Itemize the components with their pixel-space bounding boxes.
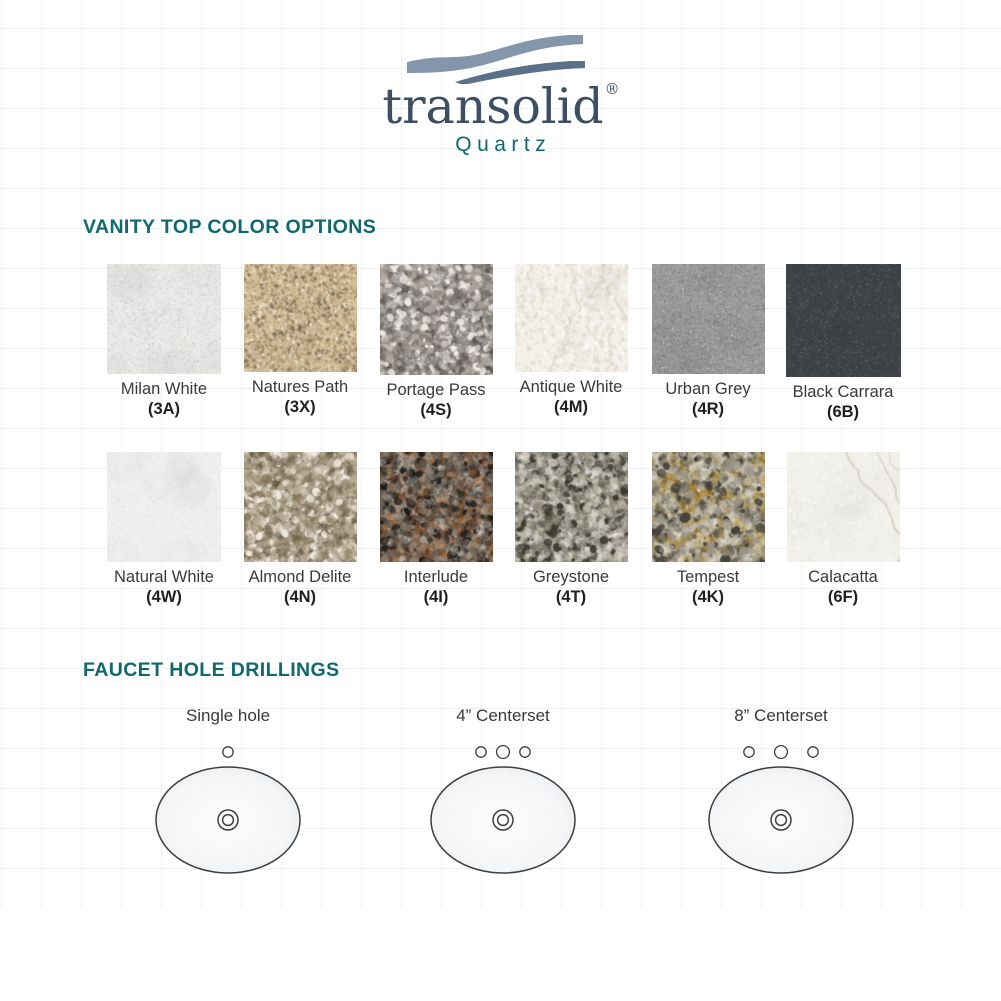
- sink-basin-diagram: [363, 732, 643, 897]
- sink-basin-diagram: [88, 732, 368, 897]
- logo-wordmark-text: transolid: [382, 78, 603, 135]
- color-swatch-name: Black Carrara: [753, 383, 933, 402]
- color-swatch-chip[interactable]: [107, 452, 221, 562]
- color-swatch-chip[interactable]: [107, 264, 221, 374]
- sink-basin-outline: [709, 767, 853, 873]
- color-swatch-chip[interactable]: [787, 452, 900, 562]
- faucet-hole: [476, 747, 486, 757]
- logo-subtitle: Quartz: [0, 133, 1001, 157]
- faucet-option-label: 4” Centerset: [363, 706, 643, 726]
- color-swatch-label-group: Black Carrara(6B): [753, 383, 933, 423]
- faucet-hole: [520, 747, 530, 757]
- logo-wordmark: transolid®: [382, 82, 618, 132]
- sink-basin-outline: [156, 767, 300, 873]
- registered-trademark-icon: ®: [605, 80, 620, 98]
- color-swatch-chip[interactable]: [515, 264, 628, 372]
- faucet-option-label: Single hole: [88, 706, 368, 726]
- color-swatch-chip[interactable]: [244, 264, 357, 372]
- color-swatch-chip[interactable]: [244, 452, 357, 562]
- section-heading-faucet-hole-drillings: FAUCET HOLE DRILLINGS: [83, 659, 339, 682]
- color-swatch-chip[interactable]: [652, 452, 765, 562]
- faucet-hole: [223, 747, 233, 757]
- faucet-option-2[interactable]: 4” Centerset: [363, 706, 643, 897]
- color-swatch-label-group: Calacatta(6F): [753, 568, 933, 608]
- swatch-row-1: Milan White(3A)Natures Path(3X)Portage P…: [0, 264, 1001, 424]
- sink-basin-diagram: [641, 732, 921, 897]
- brand-logo: transolid® Quartz: [0, 32, 1001, 157]
- color-swatch-chip[interactable]: [652, 264, 765, 374]
- color-swatch-cell[interactable]: Calacatta(6F): [753, 452, 933, 608]
- sink-basin-outline: [431, 767, 575, 873]
- faucet-hole: [808, 747, 818, 757]
- color-swatch-code: (6F): [753, 587, 933, 608]
- color-swatch-code: (6B): [753, 402, 933, 423]
- faucet-option-label: 8” Centerset: [641, 706, 921, 726]
- faucet-hole: [497, 746, 510, 759]
- logo-wave-icon: [401, 32, 601, 84]
- faucet-option-3[interactable]: 8” Centerset: [641, 706, 921, 897]
- color-swatch-name: Calacatta: [753, 568, 933, 587]
- color-swatch-chip[interactable]: [786, 264, 901, 377]
- color-swatch-chip[interactable]: [515, 452, 628, 562]
- faucet-hole: [775, 746, 788, 759]
- faucet-option-1[interactable]: Single hole: [88, 706, 368, 897]
- color-swatch-cell[interactable]: Black Carrara(6B): [753, 264, 933, 423]
- color-swatch-chip[interactable]: [380, 452, 493, 562]
- faucet-hole: [744, 747, 754, 757]
- color-swatch-chip[interactable]: [380, 264, 493, 375]
- spec-sheet-page: transolid® Quartz VANITY TOP COLOR OPTIO…: [0, 0, 1001, 1001]
- section-heading-vanity-top-colors: VANITY TOP COLOR OPTIONS: [83, 216, 376, 239]
- swatch-row-2: Natural White(4W)Almond Delite(4N)Interl…: [0, 452, 1001, 612]
- faucet-options-row: Single hole4” Centerset8” Centerset: [0, 706, 1001, 906]
